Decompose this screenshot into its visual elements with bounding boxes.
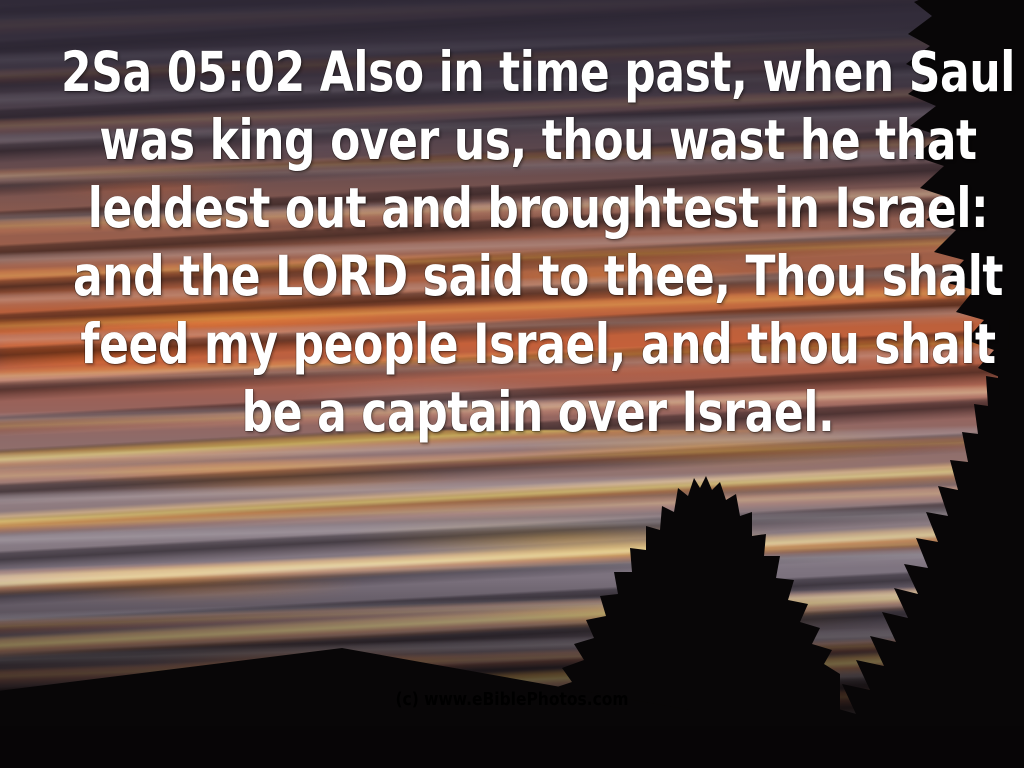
verse-line-6: be a captain over Israel. <box>26 378 1024 446</box>
verse-image-canvas: 2Sa 05:02 Also in time past, when Saul w… <box>0 0 1024 768</box>
foreground-ground <box>0 726 1024 768</box>
verse-line-5: feed my people Israel, and thou shalt <box>26 310 1024 378</box>
verse-line-3: leddest out and broughtest in Israel: <box>26 174 1024 242</box>
verse-line-1: 2Sa 05:02 Also in time past, when Saul <box>26 38 1024 106</box>
verse-line-2: was king over us, thou wast he that <box>26 106 1024 174</box>
verse-text-block: 2Sa 05:02 Also in time past, when Saul w… <box>5 38 1024 446</box>
copyright-watermark: (c) www.eBiblePhotos.com <box>72 689 953 710</box>
verse-line-4: and the LORD said to thee, Thou shalt <box>26 242 1024 310</box>
